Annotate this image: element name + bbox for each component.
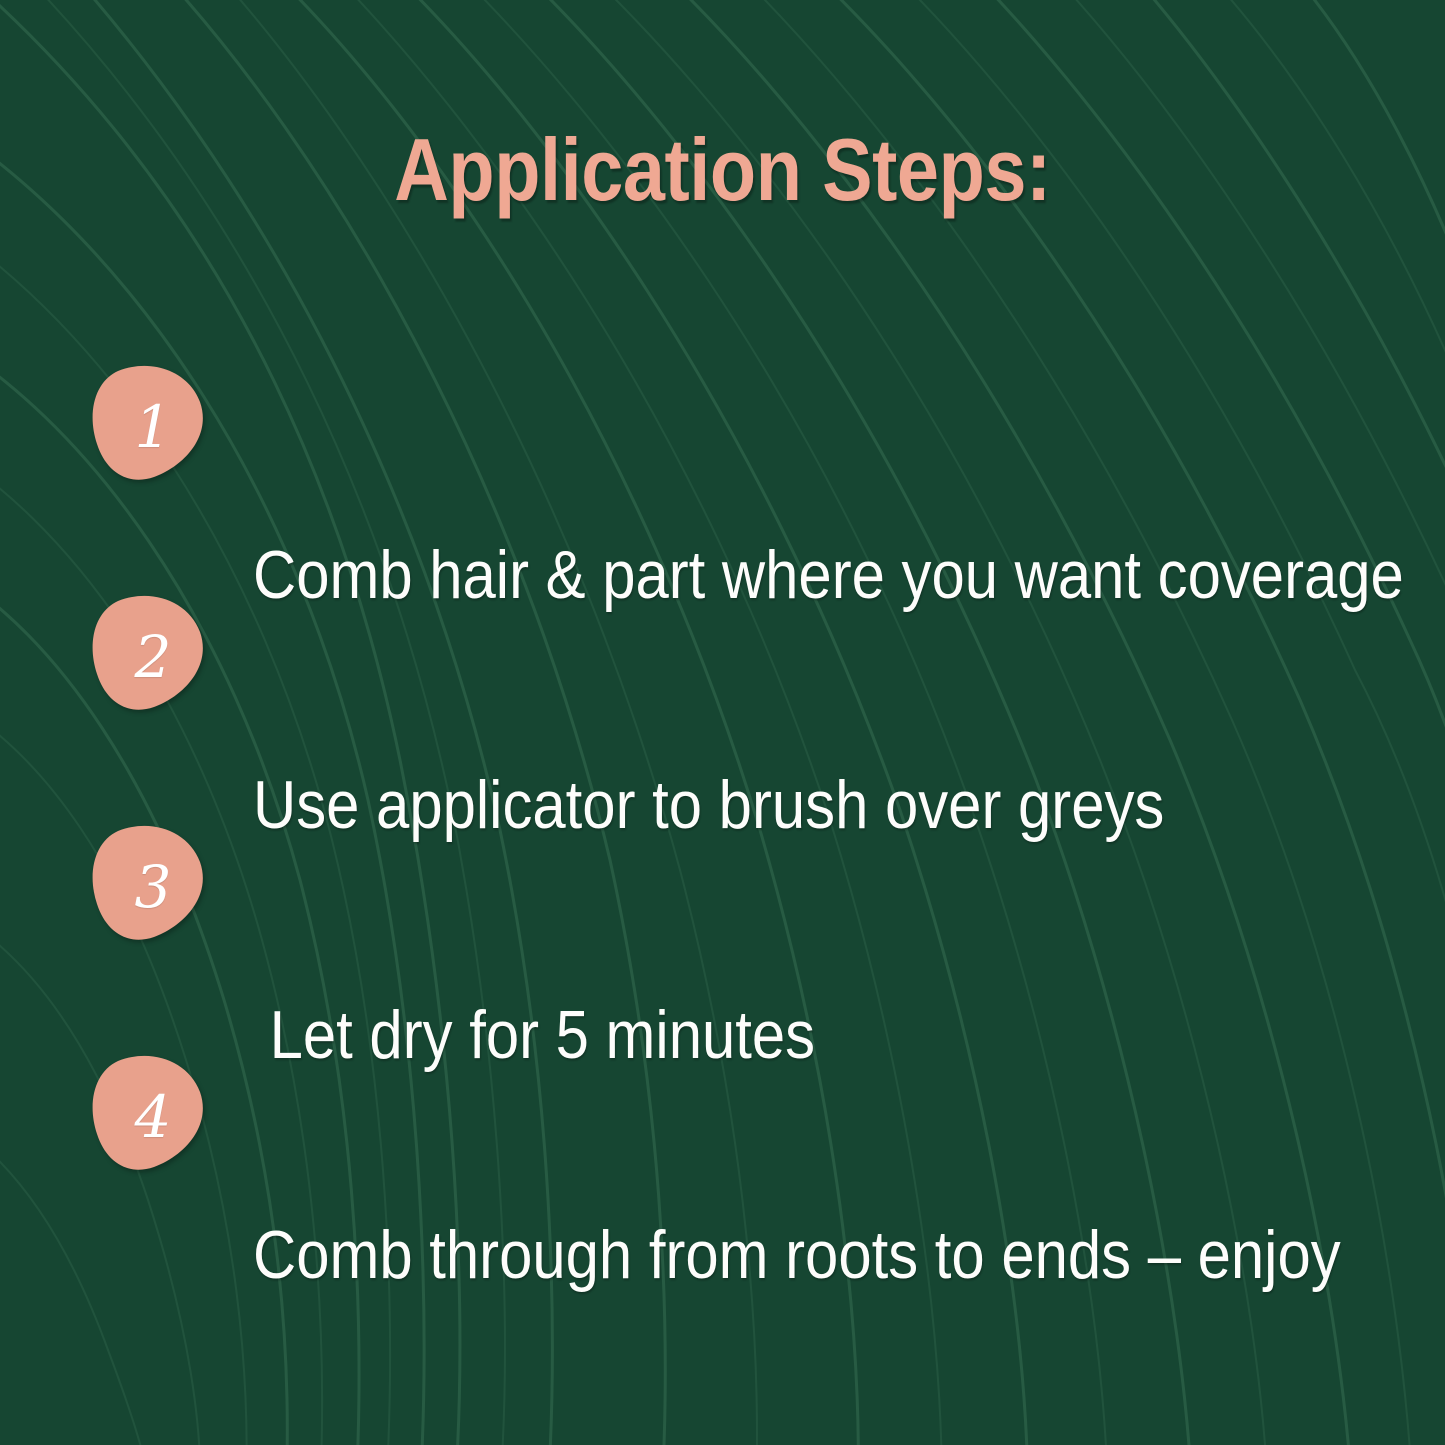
step-number: 1 bbox=[88, 362, 206, 484]
step-number-badge: 1 bbox=[88, 362, 206, 484]
list-item: 4 Comb through from roots to ends – enjo… bbox=[88, 1052, 1398, 1445]
step-number: 4 bbox=[88, 1052, 206, 1174]
step-number: 3 bbox=[88, 822, 206, 944]
step-number-badge: 2 bbox=[88, 592, 206, 714]
step-number: 2 bbox=[88, 592, 206, 714]
steps-list: 1 Comb hair & part where you want covera… bbox=[0, 0, 1445, 1445]
step-text: Comb through from roots to ends – enjoy … bbox=[253, 1052, 1341, 1445]
step-number-badge: 3 bbox=[88, 822, 206, 944]
application-steps-panel: Application Steps: 1 Comb hair & part wh… bbox=[0, 0, 1445, 1445]
step-text-line: Comb through from roots to ends – enjoy bbox=[253, 1216, 1341, 1294]
step-number-badge: 4 bbox=[88, 1052, 206, 1174]
